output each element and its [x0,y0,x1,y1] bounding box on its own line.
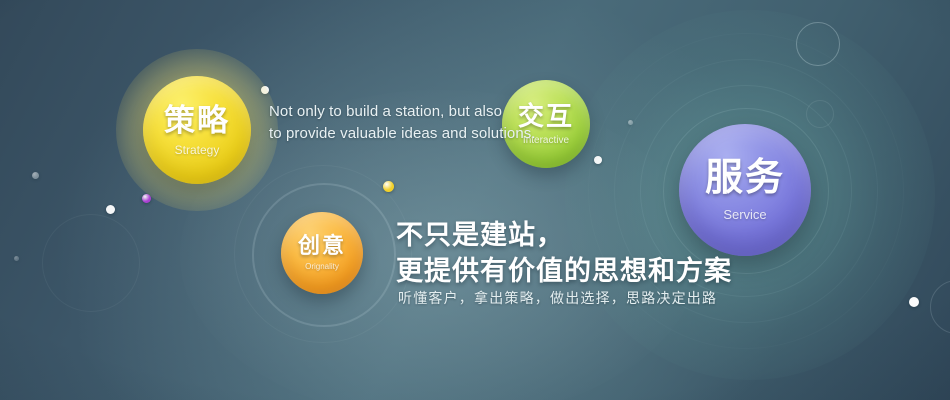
tagline-english: Not only to build a station, but also to… [269,101,536,145]
sphere-originality-en-label: Orignality [305,263,339,271]
sphere-originality-cn-label: 创意 [298,235,346,257]
sphere-strategy[interactable]: 策略 Strategy [143,76,251,184]
sphere-originality[interactable]: 创意 Orignality [281,212,363,294]
decor-ring-top-right [796,22,840,66]
decor-ring-left [42,214,140,312]
subline: 听懂客户，拿出策略，做出选择，思路决定出路 [398,288,717,308]
dot-white-right [594,156,602,164]
dot-yellow-center [383,181,394,192]
dot-gray-lower-left [14,256,19,261]
headline: 不只是建站， 更提供有价值的思想和方案 [396,218,732,289]
sphere-strategy-cn-label: 策略 [164,105,230,136]
decor-ring-right-edge [930,280,950,334]
headline-line2: 更提供有价值的思想和方案 [396,254,732,290]
dot-purple-left [142,194,151,203]
dot-white-left [106,205,115,214]
decor-ring-top-right-small [806,100,834,128]
sphere-service-cn-label: 服务 [705,159,785,197]
headline-line1: 不只是建站， [396,218,732,254]
dot-white-far-right [909,297,919,307]
sphere-strategy-en-label: Strategy [175,144,220,156]
dot-gray-right [628,120,633,125]
tagline-english-line1: Not only to build a station, but also [269,101,536,123]
tagline-english-line2: to provide valuable ideas and solutions. [269,123,536,145]
hero-banner: 策略 Strategy 交互 Interactive 创意 Orignality… [0,0,950,400]
dot-white-upper-left [261,86,269,94]
dot-gray-left [32,172,39,179]
